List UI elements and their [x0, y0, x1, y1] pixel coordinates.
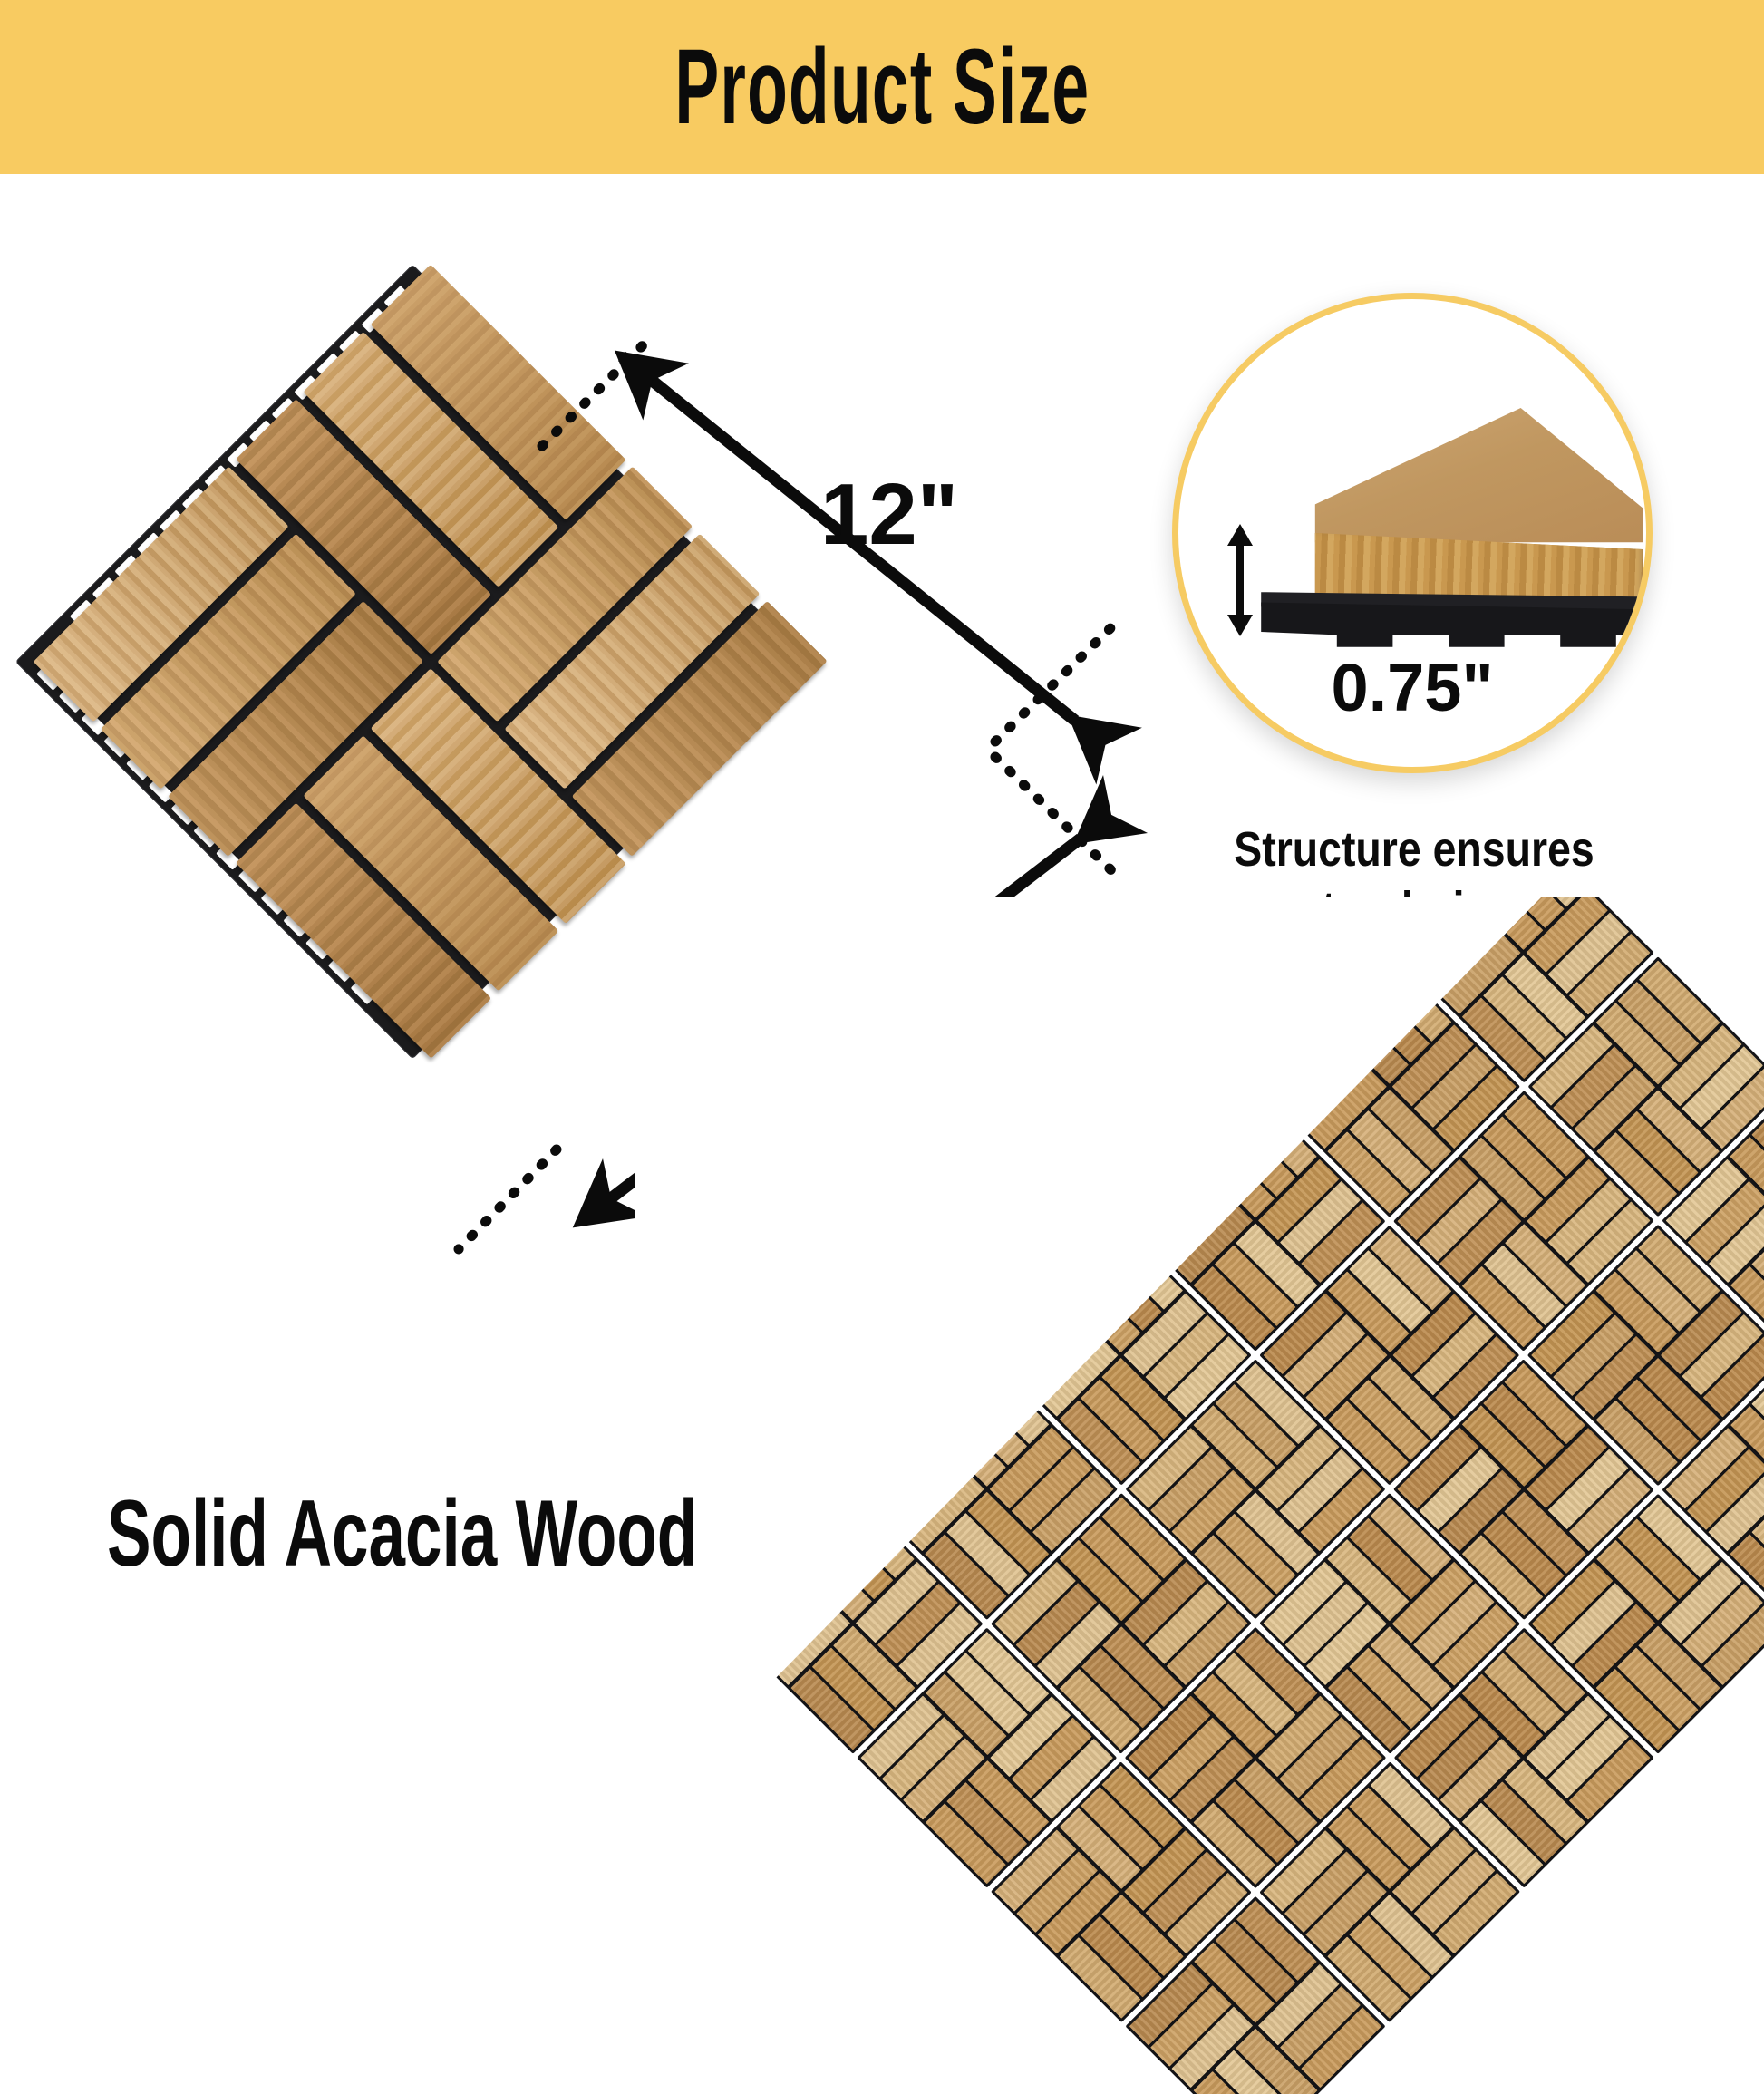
page-title: Product Size	[674, 34, 1090, 141]
thickness-arrow-icon	[1222, 522, 1258, 638]
thickness-label: 0.75"	[1178, 654, 1646, 722]
tile-edge-photo: 0.75"	[1178, 299, 1646, 767]
installed-deck-photo	[635, 897, 1764, 2094]
witness-line-right	[995, 625, 1113, 872]
dimension-label-width: 12"	[820, 471, 958, 558]
witness-line-bottom-left	[459, 1149, 557, 1249]
material-headline: Solid Acacia Wood	[107, 1487, 697, 1581]
thickness-detail-circle: 0.75"	[1172, 293, 1653, 773]
product-size-banner: Product Size	[0, 0, 1764, 174]
